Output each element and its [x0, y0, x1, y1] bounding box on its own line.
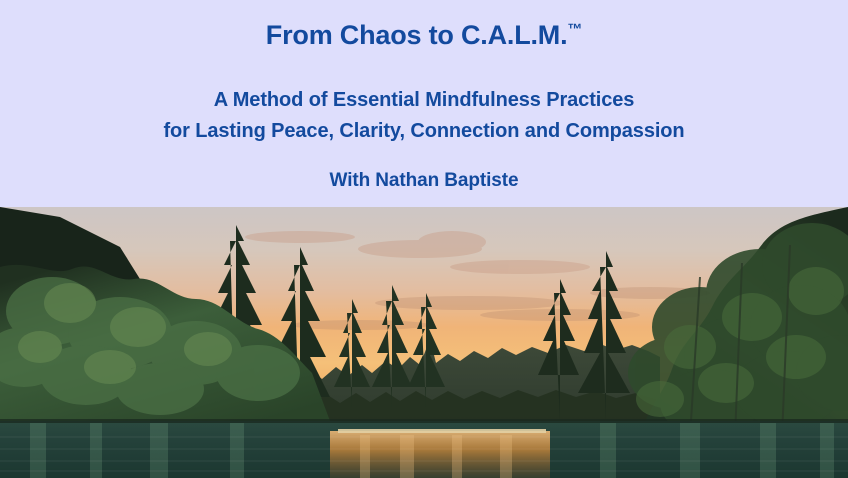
presenter-name: With Nathan Baptiste — [330, 170, 519, 192]
trademark-symbol: ™ — [567, 21, 582, 38]
subtitle-line-1: A Method of Essential Mindfulness Practi… — [214, 89, 635, 111]
presentation-slide: From Chaos to C.A.L.M.™ A Method of Esse… — [0, 0, 848, 478]
title-text: From Chaos to C.A.L.M. — [266, 20, 568, 50]
subtitle-line-2: for Lasting Peace, Clarity, Connection a… — [163, 116, 684, 147]
title-band: From Chaos to C.A.L.M.™ A Method of Esse… — [0, 0, 848, 207]
page-title: From Chaos to C.A.L.M.™ — [266, 21, 582, 51]
forest-lake-sunset-photo — [0, 207, 848, 478]
photo-illustration — [0, 207, 848, 478]
subtitle: A Method of Essential Mindfulness Practi… — [163, 85, 684, 147]
